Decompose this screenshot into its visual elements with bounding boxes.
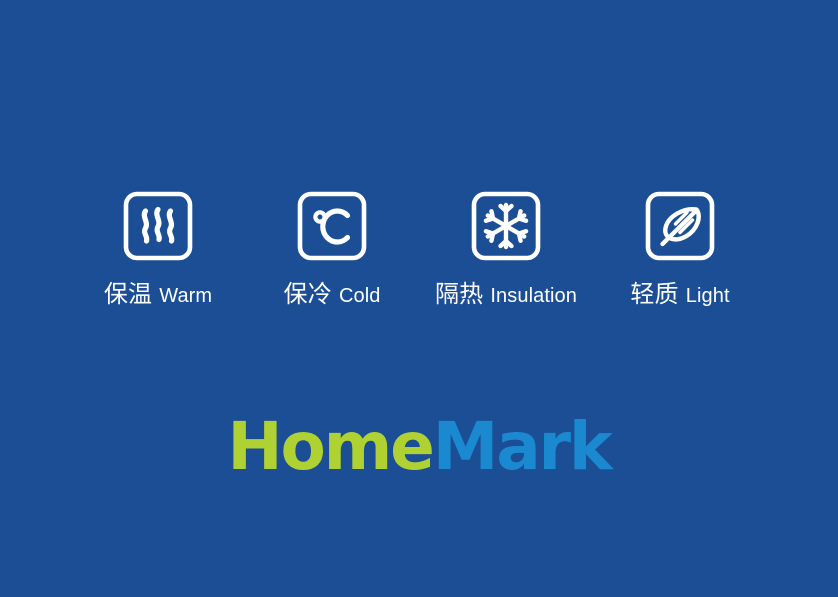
feather-leaf-icon xyxy=(644,190,716,262)
feature-light: 轻质 Light xyxy=(643,190,717,306)
feature-insulation: 隔热 Insulation xyxy=(469,190,543,306)
feature-cold: 保冷 Cold xyxy=(295,190,369,306)
feature-list: 保温 Warm 保冷 Cold xyxy=(0,190,838,306)
feature-label: 保冷 Cold xyxy=(284,282,381,306)
heat-waves-icon xyxy=(122,190,194,262)
celsius-degree-icon xyxy=(296,190,368,262)
feature-label-cn: 保冷 xyxy=(284,282,332,306)
feature-label-cn: 保温 xyxy=(104,282,152,306)
poster-canvas: 保温 Warm 保冷 Cold xyxy=(0,0,838,597)
brand-logo: HomeMark xyxy=(0,414,838,480)
feature-label: 隔热 Insulation xyxy=(435,282,577,306)
feature-label-cn: 轻质 xyxy=(630,282,678,306)
feature-label-en: Warm xyxy=(159,286,212,306)
snowflake-icon xyxy=(470,190,542,262)
feature-label: 保温 Warm xyxy=(104,282,212,306)
feature-label-cn: 隔热 xyxy=(435,282,483,306)
feature-label: 轻质 Light xyxy=(630,282,729,306)
feature-label-en: Insulation xyxy=(490,286,577,306)
feature-warm: 保温 Warm xyxy=(121,190,195,306)
brand-logo-mark: Mark xyxy=(433,414,611,480)
feature-label-en: Cold xyxy=(339,286,381,306)
brand-logo-home: Home xyxy=(227,414,432,480)
feature-label-en: Light xyxy=(686,286,730,306)
